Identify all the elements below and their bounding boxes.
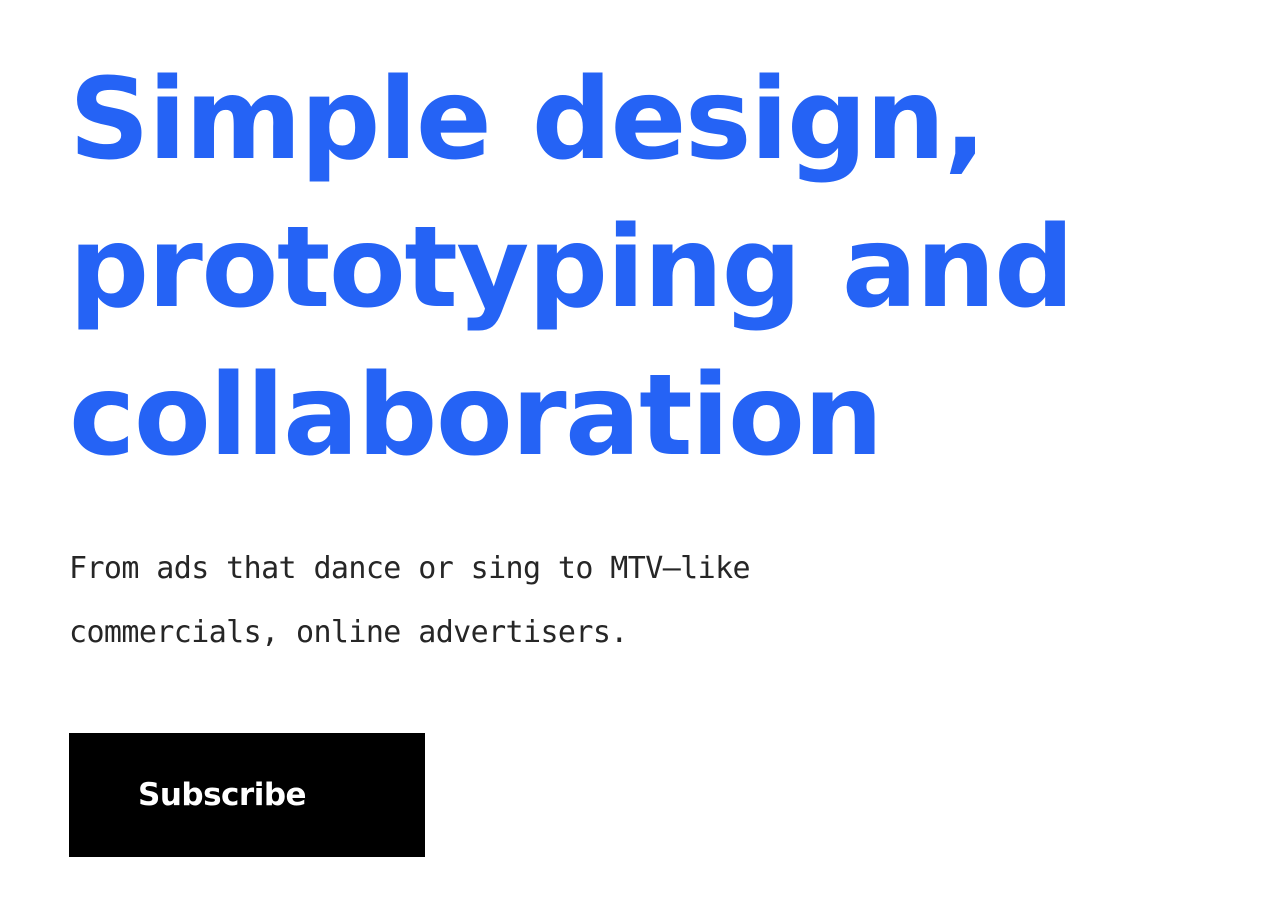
hero-section: Simple design, prototyping and collabora… [0,0,1280,924]
subscribe-button-label: Subscribe [138,780,306,811]
subscribe-button[interactable]: Subscribe [69,733,425,857]
hero-description: From ads that dance or sing to MTV–like … [69,537,969,665]
page-title: Simple design, prototyping and collabora… [69,46,1209,490]
